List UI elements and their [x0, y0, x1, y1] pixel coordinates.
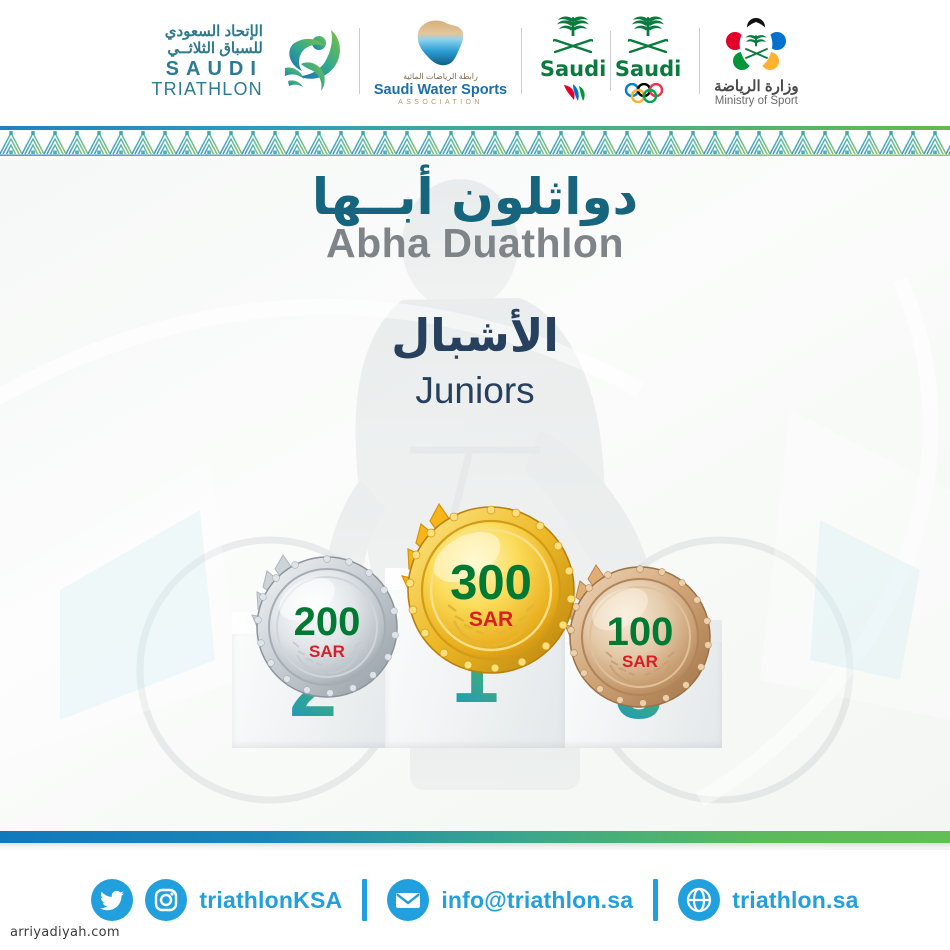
title-block: دواثلون أبــها Abha Duathlon الأشبال Jun…	[0, 160, 950, 412]
triathlon-runner-icon	[271, 24, 345, 98]
medal-gold: 300 SAR	[394, 495, 584, 685]
logo-saudi-olympic: Saudi	[611, 14, 685, 108]
logo-ministry-of-sport: وزارة الرياضة Ministry of Sport	[714, 0, 798, 122]
saudi-map-icon	[413, 17, 469, 69]
logo-saudi-committees: Saudi	[536, 0, 685, 122]
envelope-icon[interactable]	[387, 879, 429, 921]
globe-icon[interactable]	[678, 879, 720, 921]
olympic-wordmark: Saudi	[615, 59, 681, 80]
podium: 200 SAR	[0, 515, 950, 850]
main-stage: دواثلون أبــها Abha Duathlon الأشبال Jun…	[0, 160, 950, 850]
sponsor-logo-header: الإتحاد السعودي للسباق الثلاثــي SAUDI T…	[0, 0, 950, 122]
header-divider	[359, 28, 360, 94]
palm-swords-icon	[620, 14, 676, 58]
medal-amount-gold: 300	[450, 556, 532, 610]
triathlon-english-line1: SAUDI	[151, 59, 262, 79]
email-group[interactable]: info@triathlon.sa	[387, 879, 633, 921]
social-handle-text[interactable]: triathlonKSA	[199, 887, 342, 914]
footer-divider	[653, 879, 658, 921]
contact-footer: triathlonKSA info@triathlon.sa	[0, 850, 950, 950]
palm-swords-icon	[545, 14, 601, 58]
ministry-flower-icon	[722, 16, 790, 74]
ministry-english: Ministry of Sport	[715, 95, 798, 107]
category-title-arabic: الأشبال	[0, 309, 950, 362]
header-divider	[521, 28, 522, 94]
decorative-border-strip	[0, 122, 950, 160]
twitter-icon[interactable]	[91, 879, 133, 921]
water-sports-subtitle: ASSOCIATION	[398, 99, 483, 106]
floor-gradient-bar	[0, 831, 950, 843]
water-sports-english: Saudi Water Sports	[374, 82, 507, 98]
logo-saudi-water-sports: رابطة الرياضات المائية Saudi Water Sport…	[374, 0, 507, 122]
medal-silver: 200 SAR	[245, 547, 405, 707]
logo-saudi-paralympic: Saudi	[536, 14, 610, 108]
medal-amount-bronze: 100	[607, 610, 674, 654]
olympic-rings-icon	[622, 83, 674, 108]
event-title-english: Abha Duathlon	[0, 220, 950, 267]
social-media-group[interactable]: triathlonKSA	[91, 879, 342, 921]
triathlon-english-line2: TRIATHLON	[151, 80, 262, 98]
agitos-paralympic-icon	[552, 83, 594, 108]
triathlon-arabic-line2: للسباق الثلاثــي	[151, 41, 262, 56]
website-group[interactable]: triathlon.sa	[678, 879, 858, 921]
email-text[interactable]: info@triathlon.sa	[441, 887, 633, 914]
instagram-icon[interactable]	[145, 879, 187, 921]
ministry-arabic: وزارة الرياضة	[714, 77, 798, 95]
medal-amount-silver: 200	[294, 600, 361, 644]
medal-currency-gold: SAR	[469, 608, 513, 631]
floor-shadow	[0, 843, 950, 848]
logo-saudi-triathlon: الإتحاد السعودي للسباق الثلاثــي SAUDI T…	[151, 0, 344, 122]
chevron-pattern	[0, 130, 950, 156]
triathlon-arabic-line1: الإتحاد السعودي	[151, 24, 262, 39]
footer-divider	[362, 879, 367, 921]
website-text[interactable]: triathlon.sa	[732, 887, 858, 914]
source-watermark: arriyadiyah.com	[10, 925, 120, 940]
header-divider	[699, 28, 700, 94]
category-title-english: Juniors	[0, 370, 950, 412]
paralympic-wordmark: Saudi	[540, 59, 606, 80]
poster-root: الإتحاد السعودي للسباق الثلاثــي SAUDI T…	[0, 0, 950, 950]
medal-currency-bronze: SAR	[622, 652, 658, 671]
water-sports-arabic: رابطة الرياضات المائية	[403, 72, 478, 81]
event-title-arabic: دواثلون أبــها	[0, 168, 950, 226]
medal-currency-silver: SAR	[309, 642, 345, 661]
